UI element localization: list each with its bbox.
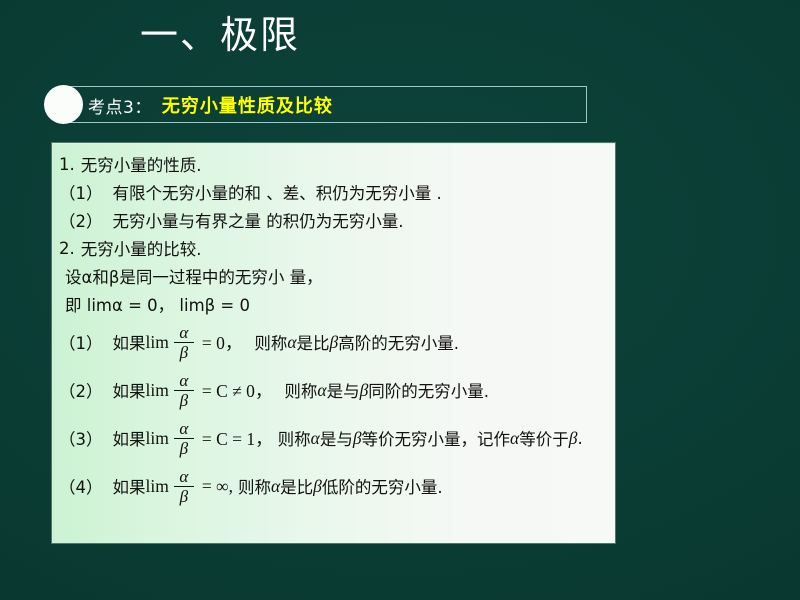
formula-tail-mid: 是与 [327, 378, 360, 402]
formula-lead: 如果 [113, 474, 146, 498]
formula-tail-extra-mid: 等价于 [519, 426, 569, 450]
formula-tail-post: 同阶的无穷小量. [368, 378, 489, 402]
symbol-alpha: α [287, 332, 296, 353]
formula-tail-pre: 则称 [278, 426, 311, 450]
lim-operator: lim [146, 332, 169, 353]
formula-row: （3） 如果 lim α β = C = 1， 则称 α 是与 β 等价无穷小量… [59, 414, 605, 462]
formula-index: （4） [59, 474, 103, 498]
fraction-alpha-over-beta: α β [174, 371, 194, 410]
symbol-alpha-equiv: α [510, 428, 519, 449]
fraction-numerator: α [176, 419, 191, 438]
fraction-denominator: β [177, 343, 191, 362]
presentation-slide: 一、极限 考点3： 无穷小量性质及比较 1. 无穷小量的性质. （1） 有限个无… [0, 0, 800, 600]
symbol-alpha: α [311, 428, 320, 449]
formula-relation: = 0， [197, 330, 248, 355]
section-header-label: 考点3： [88, 93, 152, 118]
definition-text: 设α和β是同一过程中的无穷小 量， [65, 264, 323, 288]
symbol-beta: β [353, 428, 362, 449]
fraction-numerator: α [176, 467, 191, 486]
circle-bullet-icon [44, 85, 83, 124]
list-item-index: 2. [59, 239, 75, 258]
list-item-text: 无穷小量的性质. [81, 152, 202, 176]
list-item-text: 有限个无穷小量的和 、差、积仍为无穷小量 . [113, 180, 442, 204]
list-item-text: 无穷小量与有界之量 的积仍为无穷小量. [113, 208, 404, 232]
list-item-index: （1） [59, 180, 103, 204]
symbol-alpha: α [317, 380, 326, 401]
section-header: 考点3： 无穷小量性质及比较 [88, 90, 333, 120]
limit-definition-text: 即 limα = 0， limβ = 0 [65, 292, 250, 316]
formula-lead: 如果 [113, 426, 146, 450]
formula-tail-mid: 是与 [320, 426, 353, 450]
formula-tail-end: . [577, 429, 582, 448]
formula-tail-pre: 则称 [254, 330, 287, 354]
symbol-beta-equiv: β [569, 428, 578, 449]
page-title: 一、极限 [140, 14, 300, 58]
lim-operator: lim [146, 380, 169, 401]
fraction-numerator: α [176, 371, 191, 390]
fraction-numerator: α [176, 323, 191, 342]
list-item-index: （2） [59, 208, 103, 232]
lim-operator: lim [146, 428, 169, 449]
fraction-alpha-over-beta: α β [174, 419, 194, 458]
list-item-text: 无穷小量的比较. [81, 236, 202, 260]
formula-lead: 如果 [113, 330, 146, 354]
formula-lead: 如果 [113, 378, 146, 402]
formula-relation: = C ≠ 0， [197, 378, 278, 403]
list-item: （2） 无穷小量与有界之量 的积仍为无穷小量. [59, 206, 605, 234]
limit-definition-line: 即 limα = 0， limβ = 0 [59, 290, 605, 318]
symbol-beta: β [330, 332, 339, 353]
list-item: 2. 无穷小量的比较. [59, 234, 605, 262]
fraction-alpha-over-beta: α β [174, 467, 194, 506]
fraction-denominator: β [177, 439, 191, 458]
formula-row: （2） 如果 lim α β = C ≠ 0， 则称 α 是与 β 同阶的无穷小… [59, 366, 605, 414]
fraction-alpha-over-beta: α β [174, 323, 194, 362]
formula-row: （4） 如果 lim α β = ∞, 则称 α 是比 β 低阶的无穷小量. [59, 462, 605, 510]
fraction-denominator: β [177, 487, 191, 506]
symbol-beta: β [313, 476, 322, 497]
formula-tail-mid: 是比 [280, 474, 313, 498]
formula-relation: = ∞, [197, 476, 238, 497]
formula-index: （1） [59, 330, 103, 354]
formula-tail-post: 低阶的无穷小量. [322, 474, 443, 498]
formula-tail-pre: 则称 [238, 474, 271, 498]
fraction-denominator: β [177, 391, 191, 410]
formula-relation: = C = 1， [197, 426, 278, 451]
lim-operator: lim [146, 476, 169, 497]
formula-row: （1） 如果 lim α β = 0， 则称 α 是比 β 高阶的无穷小量. [59, 318, 605, 366]
definition-line: 设α和β是同一过程中的无穷小 量， [59, 262, 605, 290]
formula-tail-pre: 则称 [284, 378, 317, 402]
formula-index: （2） [59, 378, 103, 402]
formula-tail-mid: 是比 [297, 330, 330, 354]
list-item: 1. 无穷小量的性质. [59, 150, 605, 178]
list-item-index: 1. [59, 155, 75, 174]
formula-index: （3） [59, 426, 103, 450]
formula-tail-post: 高阶的无穷小量. [338, 330, 459, 354]
content-panel: 1. 无穷小量的性质. （1） 有限个无穷小量的和 、差、积仍为无穷小量 . （… [52, 143, 615, 543]
symbol-beta: β [360, 380, 369, 401]
list-item: （1） 有限个无穷小量的和 、差、积仍为无穷小量 . [59, 178, 605, 206]
symbol-alpha: α [271, 476, 280, 497]
formula-tail-post: 等价无穷小量，记作 [362, 426, 511, 450]
section-header-topic: 无穷小量性质及比较 [162, 92, 333, 118]
